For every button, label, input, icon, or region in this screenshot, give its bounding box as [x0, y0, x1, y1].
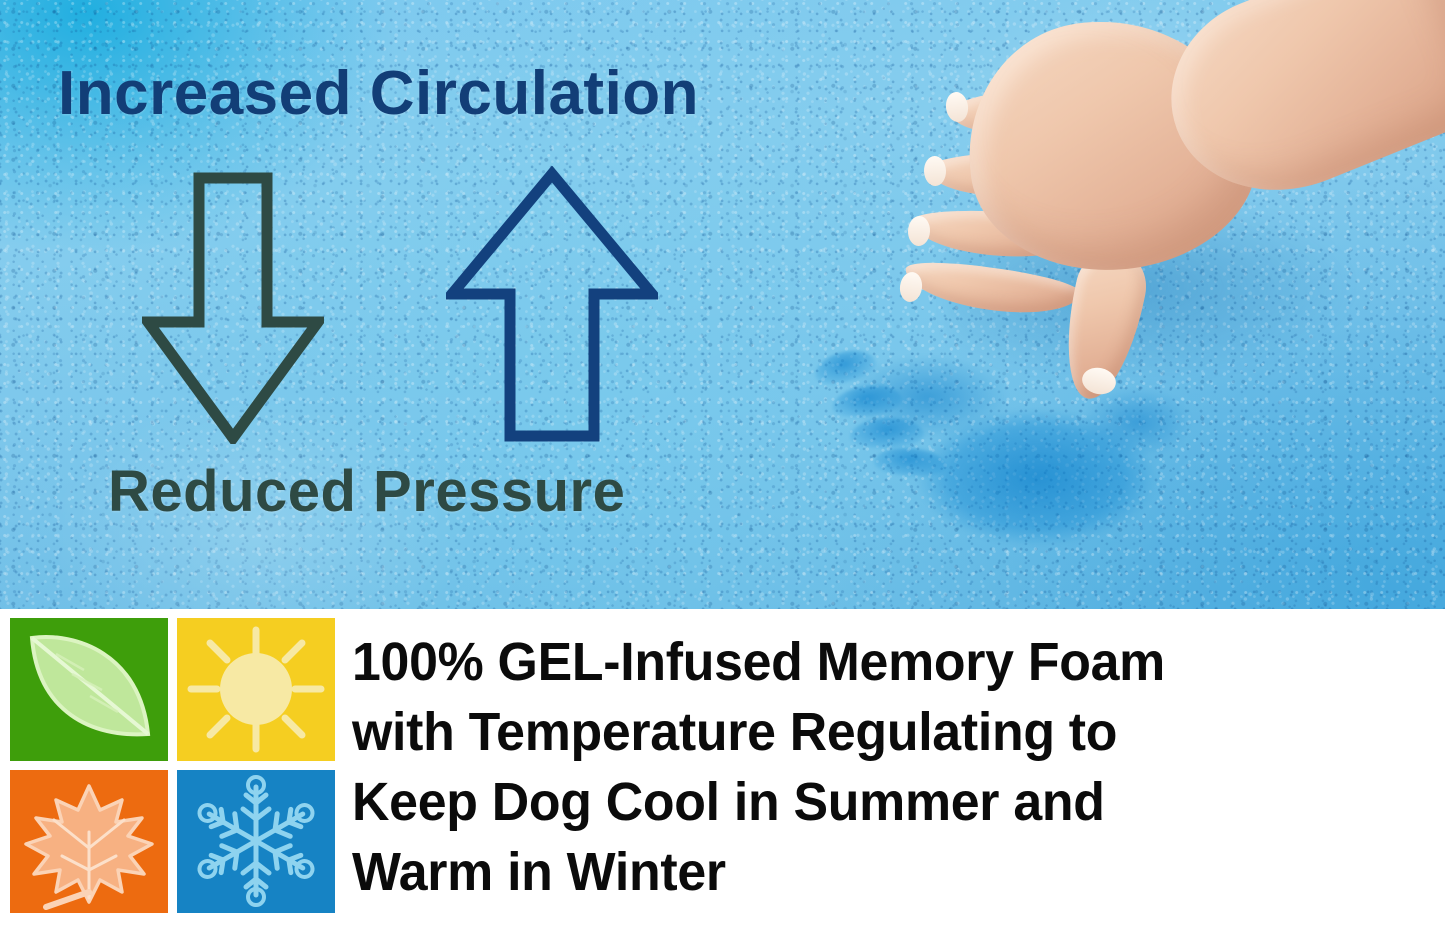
poster-root: Increased Circulation Reduced Pressure	[0, 0, 1445, 927]
label-increased-circulation: Increased Circulation	[58, 58, 699, 129]
handprint-finger-mark	[849, 417, 924, 450]
handprint-finger-mark	[830, 381, 903, 420]
hand-photo-region	[800, 0, 1445, 609]
foam-photo-panel: Increased Circulation Reduced Pressure	[0, 0, 1445, 609]
snowflake-icon	[177, 770, 335, 913]
handprint-finger-mark	[811, 345, 878, 389]
fingernail	[907, 215, 931, 246]
maple-leaf-icon	[10, 770, 168, 913]
arrow-down-icon	[142, 172, 324, 444]
headline-line-3: Keep Dog Cool in Summer and	[352, 767, 1398, 837]
label-reduced-pressure: Reduced Pressure	[108, 458, 625, 525]
headline-block: 100% GEL-Infused Memory Foam with Temper…	[352, 627, 1442, 907]
headline-line-4: Warm in Winter	[352, 837, 1398, 907]
headline-line-2: with Temperature Regulating to	[352, 697, 1398, 767]
feature-tile-autumn	[10, 770, 168, 913]
bottom-info-band: 100% GEL-Infused Memory Foam with Temper…	[0, 609, 1445, 927]
feature-tile-summer	[177, 618, 335, 761]
headline-line-1: 100% GEL-Infused Memory Foam	[352, 627, 1398, 697]
sun-icon	[177, 618, 335, 761]
feature-tile-winter	[177, 770, 335, 913]
feature-tile-spring	[10, 618, 168, 761]
feature-tile-grid	[10, 618, 335, 918]
arrow-up-icon	[446, 166, 658, 444]
leaf-icon	[10, 618, 168, 761]
